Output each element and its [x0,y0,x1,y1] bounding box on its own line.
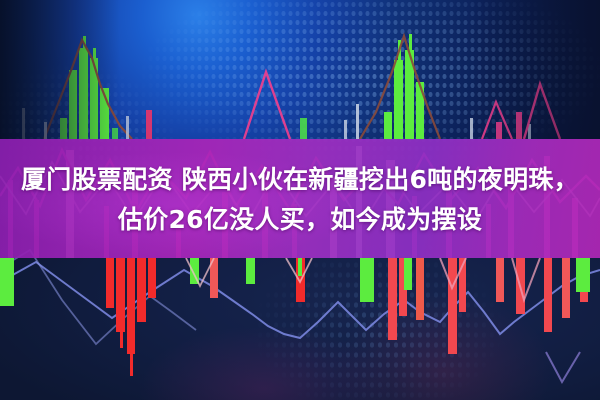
headline: 厦门股票配资 陕西小伙在新疆挖出6吨的夜明珠， 估价26亿没人买，如今成为摆设 [0,160,600,240]
headline-line-2: 估价26亿没人买，如今成为摆设 [0,200,600,240]
thumbnail-canvas: 厦门股票配资 陕西小伙在新疆挖出6吨的夜明珠， 估价26亿没人买，如今成为摆设 [0,0,600,400]
headline-line-1: 厦门股票配资 陕西小伙在新疆挖出6吨的夜明珠， [0,160,600,200]
